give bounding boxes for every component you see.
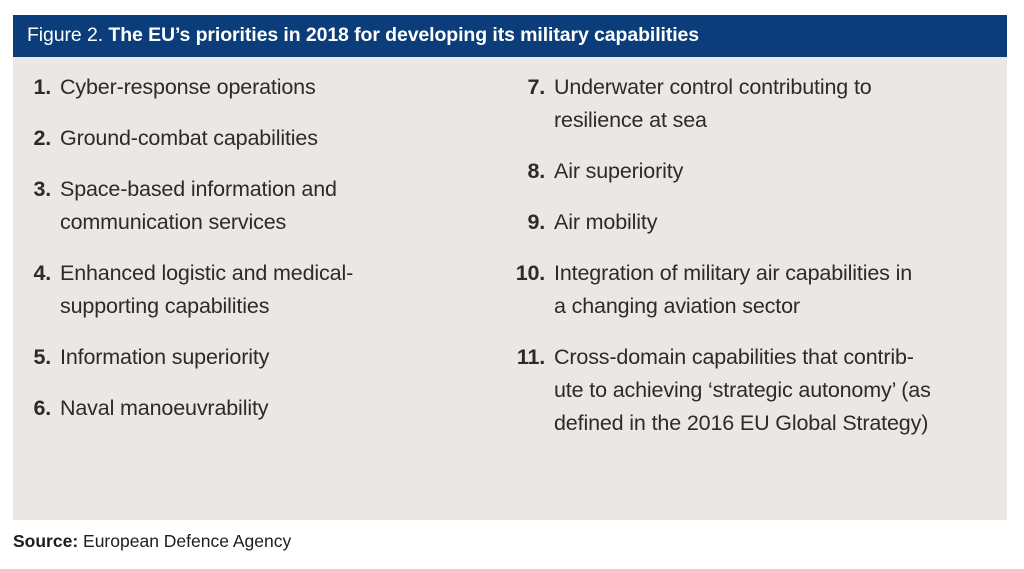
list-item-line: Enhanced logistic and medical- <box>60 257 505 290</box>
list-item-line: Ground-combat capabilities <box>60 122 505 155</box>
figure-label: Figure 2. <box>27 24 103 46</box>
figure-header-title: Figure 2. The EU’s priorities in 2018 fo… <box>27 26 699 46</box>
list-item-line: ute to achieving ‘strategic autonomy’ (a… <box>554 374 1007 407</box>
list-item-text: Information superiority <box>60 341 505 374</box>
list-item: 3. Space-based information andcommunicat… <box>25 173 505 239</box>
priority-column-left: 1. Cyber-response operations 2. Ground-c… <box>13 71 505 520</box>
figure-container: Figure 2. The EU’s priorities in 2018 fo… <box>13 15 1007 520</box>
list-item: 9. Air mobility <box>505 206 1007 239</box>
source-note: Source: European Defence Agency <box>13 530 291 552</box>
list-item: 4. Enhanced logistic and medical-support… <box>25 257 505 323</box>
list-item-line: Integration of military air capabilities… <box>554 257 1007 290</box>
list-item: 1. Cyber-response operations <box>25 71 505 104</box>
list-item-text: Underwater control contributing toresili… <box>554 71 1007 137</box>
list-item-line: Underwater control contributing to <box>554 71 1007 104</box>
list-item-text: Air superiority <box>554 155 1007 188</box>
list-item-text: Ground-combat capabilities <box>60 122 505 155</box>
list-item-number: 7. <box>505 71 545 104</box>
list-item-line: Naval manoeuvrability <box>60 392 505 425</box>
list-item-line: communication services <box>60 206 505 239</box>
list-item-number: 11. <box>505 341 545 374</box>
list-item-number: 4. <box>25 257 51 290</box>
list-item: 11. Cross-domain capabilities that contr… <box>505 341 1007 440</box>
list-item-line: Cross-domain capabilities that contrib- <box>554 341 1007 374</box>
list-item-line: supporting capabilities <box>60 290 505 323</box>
list-item-line: resilience at sea <box>554 104 1007 137</box>
list-item: 10. Integration of military air capabili… <box>505 257 1007 323</box>
source-label: Source: <box>13 531 78 551</box>
list-item-text: Integration of military air capabilities… <box>554 257 1007 323</box>
list-item-line: Air superiority <box>554 155 1007 188</box>
list-item-text: Space-based information andcommunication… <box>60 173 505 239</box>
list-item-number: 10. <box>505 257 545 290</box>
list-item-line: Information superiority <box>60 341 505 374</box>
priority-column-right: 7. Underwater control contributing tores… <box>505 71 1007 520</box>
list-item-line: defined in the 2016 EU Global Strategy) <box>554 407 1007 440</box>
list-item-number: 6. <box>25 392 51 425</box>
figure-header-bar: Figure 2. The EU’s priorities in 2018 fo… <box>13 15 1007 57</box>
figure-title: The EU’s priorities in 2018 for developi… <box>108 24 699 46</box>
figure-body-panel: 1. Cyber-response operations 2. Ground-c… <box>13 57 1007 520</box>
list-item: 5. Information superiority <box>25 341 505 374</box>
list-item-number: 3. <box>25 173 51 206</box>
list-item-line: Cyber-response operations <box>60 71 505 104</box>
list-item-number: 2. <box>25 122 51 155</box>
list-item-number: 9. <box>505 206 545 239</box>
list-item-text: Cross-domain capabilities that contrib-u… <box>554 341 1007 440</box>
list-item-number: 1. <box>25 71 51 104</box>
source-value: European Defence Agency <box>83 531 291 551</box>
list-item: 2. Ground-combat capabilities <box>25 122 505 155</box>
list-item-text: Cyber-response operations <box>60 71 505 104</box>
list-item-text: Enhanced logistic and medical-supporting… <box>60 257 505 323</box>
list-item: 7. Underwater control contributing tores… <box>505 71 1007 137</box>
list-item-line: a changing aviation sector <box>554 290 1007 323</box>
list-item-number: 5. <box>25 341 51 374</box>
list-item: 6. Naval manoeuvrability <box>25 392 505 425</box>
list-item-line: Space-based information and <box>60 173 505 206</box>
list-item-text: Air mobility <box>554 206 1007 239</box>
list-item-text: Naval manoeuvrability <box>60 392 505 425</box>
list-item: 8. Air superiority <box>505 155 1007 188</box>
list-item-number: 8. <box>505 155 545 188</box>
list-item-line: Air mobility <box>554 206 1007 239</box>
